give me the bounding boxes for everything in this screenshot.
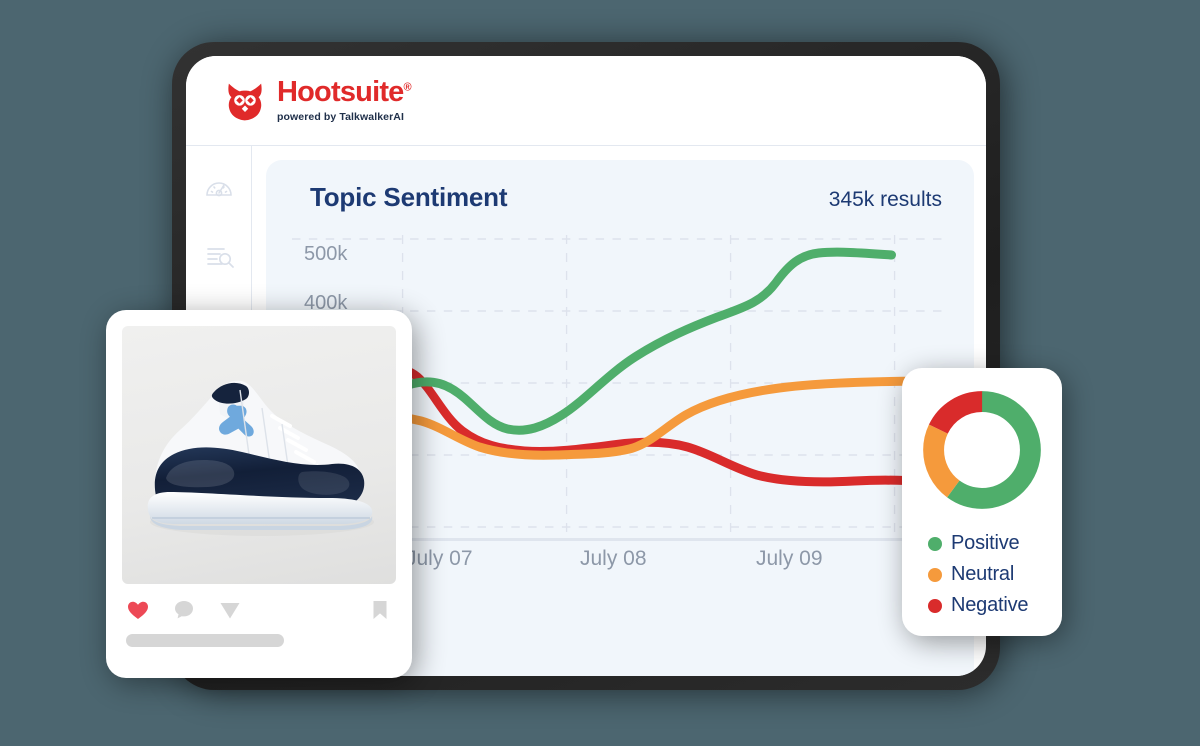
sentiment-donut-chart bbox=[916, 384, 1048, 516]
legend-dot-positive bbox=[928, 537, 942, 551]
chart-header: Topic Sentiment 345k results bbox=[292, 182, 948, 213]
comment-icon[interactable] bbox=[172, 598, 196, 622]
heart-icon[interactable] bbox=[126, 598, 150, 622]
social-post-card bbox=[106, 310, 412, 678]
x-tick-july-08: July 08 bbox=[580, 547, 647, 571]
legend-item-negative[interactable]: Negative bbox=[928, 594, 1048, 617]
legend-item-positive[interactable]: Positive bbox=[928, 532, 1048, 555]
sentiment-legend: Positive Neutral Negative bbox=[916, 532, 1048, 625]
post-actions bbox=[122, 584, 396, 622]
legend-label-positive: Positive bbox=[951, 532, 1019, 555]
y-tick-500k: 500k bbox=[304, 243, 347, 266]
legend-label-neutral: Neutral bbox=[951, 563, 1014, 586]
app-header: Hootsuite® powered by TalkwalkerAI bbox=[186, 56, 986, 146]
brand-registered-mark: ® bbox=[404, 82, 411, 94]
legend-item-neutral[interactable]: Neutral bbox=[928, 563, 1048, 586]
owl-icon bbox=[224, 81, 266, 121]
post-image[interactable] bbox=[122, 326, 396, 584]
brand-name: Hootsuite® bbox=[277, 78, 411, 107]
post-caption-placeholder bbox=[126, 634, 284, 647]
share-icon[interactable] bbox=[218, 598, 242, 622]
page-title: Topic Sentiment bbox=[310, 182, 507, 213]
bookmark-icon[interactable] bbox=[368, 598, 392, 622]
legend-dot-neutral bbox=[928, 568, 942, 582]
sentiment-breakdown-card: Positive Neutral Negative bbox=[902, 368, 1062, 636]
brand-logo[interactable]: Hootsuite® powered by TalkwalkerAI bbox=[224, 78, 411, 123]
sidebar-item-dashboard[interactable] bbox=[203, 172, 235, 204]
screenshot-stage: Hootsuite® powered by TalkwalkerAI bbox=[0, 0, 1200, 746]
sidebar-item-search[interactable] bbox=[203, 240, 235, 272]
x-tick-july-09: July 09 bbox=[756, 547, 823, 571]
results-count: 345k results bbox=[829, 188, 942, 212]
legend-dot-negative bbox=[928, 599, 942, 613]
sneaker-illustration bbox=[122, 326, 396, 584]
legend-label-negative: Negative bbox=[951, 594, 1028, 617]
brand-tagline: powered by TalkwalkerAI bbox=[277, 112, 411, 123]
